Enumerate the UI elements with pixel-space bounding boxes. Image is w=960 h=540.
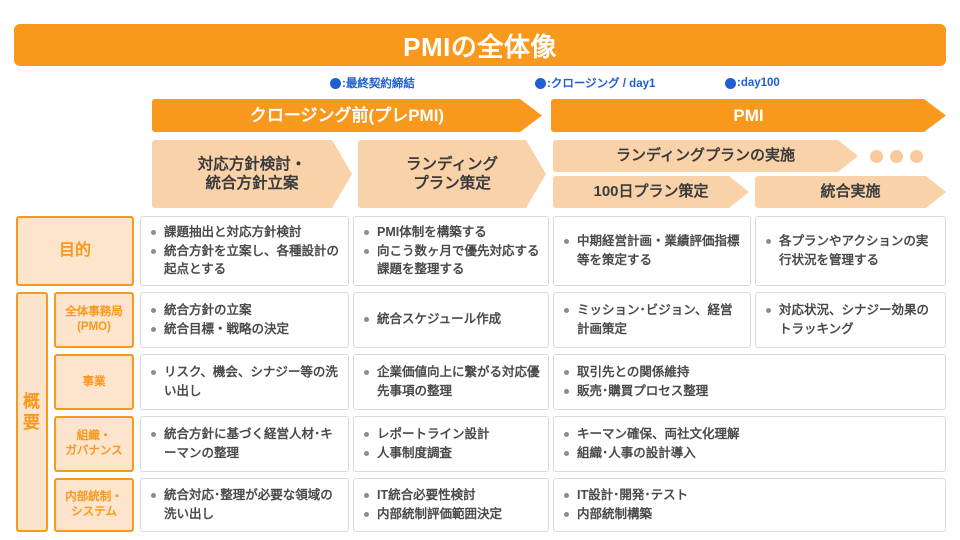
cell-pmo-col1: 統合方針の立案統合目標・戦略の決定 bbox=[140, 292, 349, 348]
bullet-item: 中期経営計画・業績評価指標等を策定する bbox=[563, 232, 742, 268]
subphase-label: 対応方針検討・ 統合方針立案 bbox=[198, 155, 307, 194]
subphase-label: 100日プラン策定 bbox=[593, 183, 708, 202]
bullet-item: 企業価値向上に繋がる対応優先事項の整理 bbox=[363, 363, 540, 399]
subphase-integration-execution: 統合実施 bbox=[755, 176, 946, 208]
bullet-list: 企業価値向上に繋がる対応優先事項の整理 bbox=[363, 363, 540, 400]
bullet-list: IT設計･開発･テスト内部統制構築 bbox=[563, 486, 937, 524]
cell-pmo-col4: 対応状況、シナジー効果のトラッキング bbox=[755, 292, 946, 348]
legend-label: :クロージング / day1 bbox=[547, 75, 655, 91]
legend-item-day100: :day100 bbox=[725, 77, 780, 89]
subphase-landing-plan-execution: ランディングプランの実施 bbox=[553, 140, 858, 172]
bullet-item: IT統合必要性検討 bbox=[363, 486, 540, 504]
legend-item-final-contract: :最終契約締結 bbox=[330, 75, 415, 91]
cell-business-col34: 取引先との関係維持販売･購買プロセス整理 bbox=[553, 354, 946, 410]
bullet-item: 統合スケジュール作成 bbox=[363, 310, 540, 328]
bullet-item: 組織･人事の設計導入 bbox=[563, 444, 937, 462]
bullet-list: 課題抽出と対応方針検討統合方針を立案し、各種設計の起点とする bbox=[150, 223, 340, 279]
row-sublabel-internal-control: 内部統制・ システム bbox=[54, 478, 134, 532]
bullet-list: 対応状況、シナジー効果のトラッキング bbox=[765, 301, 937, 338]
bullet-item: 販売･購買プロセス整理 bbox=[563, 382, 937, 400]
row-sublabel-line2: (PMO) bbox=[77, 321, 111, 333]
row-sublabel-line1: 内部統制・ bbox=[65, 491, 123, 503]
row-sublabel-pmo: 全体事務局 (PMO) bbox=[54, 292, 134, 348]
subphase-label: 統合実施 bbox=[820, 183, 880, 202]
bullet-item: リスク、機会、シナジー等の洗い出し bbox=[150, 363, 340, 399]
subphase-policy-review: 対応方針検討・ 統合方針立案 bbox=[152, 140, 352, 208]
row-sublabel-line1: 組織・ bbox=[77, 430, 112, 442]
cell-purpose-col4: 各プランやアクションの実行状況を管理する bbox=[755, 216, 946, 286]
subphase-label-line2: プラン策定 bbox=[413, 175, 491, 192]
bullet-item: 課題抽出と対応方針検討 bbox=[150, 223, 340, 241]
phase-banner-label: PMI bbox=[733, 105, 763, 126]
cell-internal-control-col1: 統合対応･整理が必要な領域の洗い出し bbox=[140, 478, 349, 532]
phase-banner-pmi: PMI bbox=[551, 99, 946, 132]
bullet-list: 統合方針の立案統合目標・戦略の決定 bbox=[150, 301, 340, 339]
bullet-list: 統合スケジュール作成 bbox=[363, 310, 540, 329]
blue-circle-icon bbox=[330, 78, 341, 89]
page-title-banner: PMIの全体像 bbox=[14, 24, 946, 66]
bullet-list: ミッション･ビジョン、経営計画策定 bbox=[563, 301, 742, 338]
bullet-list: IT統合必要性検討内部統制評価範囲決定 bbox=[363, 486, 540, 524]
bullet-list: キーマン確保、両社文化理解組織･人事の設計導入 bbox=[563, 425, 937, 463]
row-label-purpose: 目的 bbox=[16, 216, 134, 286]
cell-organization-col1: 統合方針に基づく経営人材･キーマンの整理 bbox=[140, 416, 349, 472]
subphase-label-line2: 統合方針立案 bbox=[205, 175, 298, 192]
bullet-item: 統合対応･整理が必要な領域の洗い出し bbox=[150, 486, 340, 522]
blue-circle-icon bbox=[535, 78, 546, 89]
row-sublabel-text: 組織・ ガバナンス bbox=[65, 429, 122, 459]
bullet-item: PMI体制を構築する bbox=[363, 223, 540, 241]
bullet-item: 取引先との関係維持 bbox=[563, 363, 937, 381]
page-title: PMIの全体像 bbox=[403, 27, 557, 64]
cell-organization-col2: レポートライン設計人事制度調査 bbox=[353, 416, 549, 472]
blue-circle-icon bbox=[725, 78, 736, 89]
bullet-item: レポートライン設計 bbox=[363, 425, 540, 443]
row-sublabel-organization: 組織・ ガバナンス bbox=[54, 416, 134, 472]
legend-item-closing-day1: :クロージング / day1 bbox=[535, 75, 655, 91]
bullet-list: PMI体制を構築する向こう数ヶ月で優先対応する課題を整理する bbox=[363, 223, 540, 279]
cell-internal-control-col2: IT統合必要性検討内部統制評価範囲決定 bbox=[353, 478, 549, 532]
bullet-item: 内部統制構築 bbox=[563, 505, 937, 523]
legend-label: :最終契約締結 bbox=[342, 75, 415, 91]
subphase-label: ランディング プラン策定 bbox=[406, 155, 498, 194]
cell-purpose-col3: 中期経営計画・業績評価指標等を策定する bbox=[553, 216, 751, 286]
row-label-text-char2: 要 bbox=[23, 412, 41, 433]
bullet-list: 各プランやアクションの実行状況を管理する bbox=[765, 232, 937, 269]
row-label-text-char1: 概 bbox=[23, 391, 41, 412]
bullet-item: 統合方針の立案 bbox=[150, 301, 340, 319]
row-sublabel-line2: ガバナンス bbox=[65, 445, 122, 457]
subphase-100day-plan: 100日プラン策定 bbox=[553, 176, 749, 208]
bullet-item: IT設計･開発･テスト bbox=[563, 486, 937, 504]
row-sublabel-text: 全体事務局 (PMO) bbox=[65, 305, 123, 335]
bullet-list: リスク、機会、シナジー等の洗い出し bbox=[150, 363, 340, 400]
subphase-label: ランディングプランの実施 bbox=[616, 147, 795, 166]
phase-banner-label: クロージング前(プレPMI) bbox=[250, 105, 444, 126]
phase-banner-pre-pmi: クロージング前(プレPMI) bbox=[152, 99, 542, 132]
bullet-list: レポートライン設計人事制度調査 bbox=[363, 425, 540, 463]
dot-icon bbox=[890, 150, 903, 163]
continuation-dots-icon bbox=[870, 149, 946, 163]
row-label-text: 目的 bbox=[59, 241, 91, 261]
bullet-item: キーマン確保、両社文化理解 bbox=[563, 425, 937, 443]
cell-organization-col34: キーマン確保、両社文化理解組織･人事の設計導入 bbox=[553, 416, 946, 472]
bullet-item: 統合方針に基づく経営人材･キーマンの整理 bbox=[150, 425, 340, 461]
bullet-item: ミッション･ビジョン、経営計画策定 bbox=[563, 301, 742, 337]
legend: :最終契約締結 :クロージング / day1 :day100 bbox=[330, 73, 850, 93]
cell-pmo-col3: ミッション･ビジョン、経営計画策定 bbox=[553, 292, 751, 348]
cell-pmo-col2: 統合スケジュール作成 bbox=[353, 292, 549, 348]
cell-purpose-col1: 課題抽出と対応方針検討統合方針を立案し、各種設計の起点とする bbox=[140, 216, 349, 286]
bullet-item: 内部統制評価範囲決定 bbox=[363, 505, 540, 523]
pmi-overview-diagram: PMIの全体像 :最終契約締結 :クロージング / day1 :day100 ク… bbox=[0, 0, 960, 540]
dot-icon bbox=[910, 150, 923, 163]
bullet-item: 人事制度調査 bbox=[363, 444, 540, 462]
row-sublabel-line2: システム bbox=[71, 506, 117, 518]
legend-label: :day100 bbox=[737, 77, 780, 89]
row-sublabel-business: 事業 bbox=[54, 354, 134, 410]
cell-business-col1: リスク、機会、シナジー等の洗い出し bbox=[140, 354, 349, 410]
subphase-label-line1: 対応方針検討・ bbox=[198, 156, 307, 173]
row-sublabel-line1: 全体事務局 bbox=[65, 306, 123, 318]
row-label-overview: 概 要 bbox=[16, 292, 48, 532]
subphase-label-line1: ランディング bbox=[406, 156, 498, 173]
bullet-item: 向こう数ヶ月で優先対応する課題を整理する bbox=[363, 242, 540, 278]
row-sublabel-text: 事業 bbox=[83, 375, 106, 390]
bullet-item: 各プランやアクションの実行状況を管理する bbox=[765, 232, 937, 268]
dot-icon bbox=[870, 150, 883, 163]
cell-internal-control-col34: IT設計･開発･テスト内部統制構築 bbox=[553, 478, 946, 532]
bullet-item: 統合目標・戦略の決定 bbox=[150, 320, 340, 338]
bullet-item: 統合方針を立案し、各種設計の起点とする bbox=[150, 242, 340, 278]
bullet-list: 取引先との関係維持販売･購買プロセス整理 bbox=[563, 363, 937, 401]
bullet-list: 統合方針に基づく経営人材･キーマンの整理 bbox=[150, 425, 340, 462]
bullet-item: 対応状況、シナジー効果のトラッキング bbox=[765, 301, 937, 337]
bullet-list: 統合対応･整理が必要な領域の洗い出し bbox=[150, 486, 340, 523]
subphase-landing-plan: ランディング プラン策定 bbox=[358, 140, 546, 208]
cell-purpose-col2: PMI体制を構築する向こう数ヶ月で優先対応する課題を整理する bbox=[353, 216, 549, 286]
bullet-list: 中期経営計画・業績評価指標等を策定する bbox=[563, 232, 742, 269]
cell-business-col2: 企業価値向上に繋がる対応優先事項の整理 bbox=[353, 354, 549, 410]
row-sublabel-text: 内部統制・ システム bbox=[65, 490, 123, 520]
